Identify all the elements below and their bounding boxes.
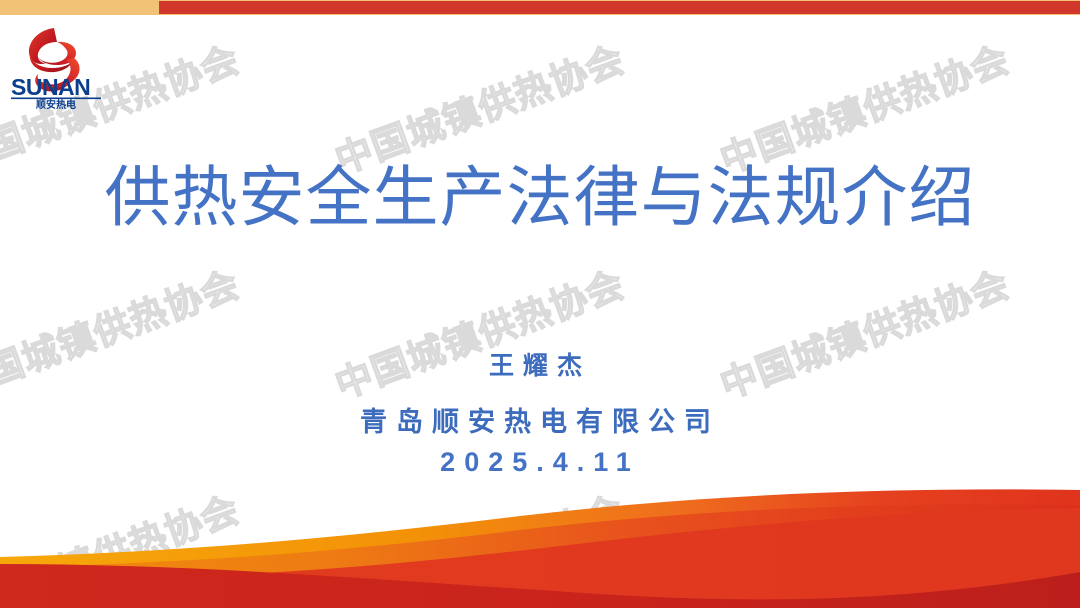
presenter-name: 王耀杰 [0,348,1080,386]
presenter-block: 王耀杰 青岛顺安热电有限公司 2025.4.11 [0,348,1080,480]
logo-wordmark-cn: 顺安热电 [36,98,76,110]
logo-wordmark-latin: SUNAN [11,74,90,100]
bottom-wave-graphic [0,468,1080,608]
slide-canvas: 中国城镇供热协会中国城镇供热协会中国城镇供热协会中国城镇供热协会中国城镇供热协会… [0,0,1080,608]
slide-title: 供热安全生产法律与法规介绍 [0,160,1080,236]
sunan-logo: SUNAN 顺安热电 [8,22,104,110]
company-name: 青岛顺安热电有限公司 [0,404,1080,442]
top-bar-red [159,1,1080,14]
presentation-date: 2025.4.11 [0,445,1080,480]
